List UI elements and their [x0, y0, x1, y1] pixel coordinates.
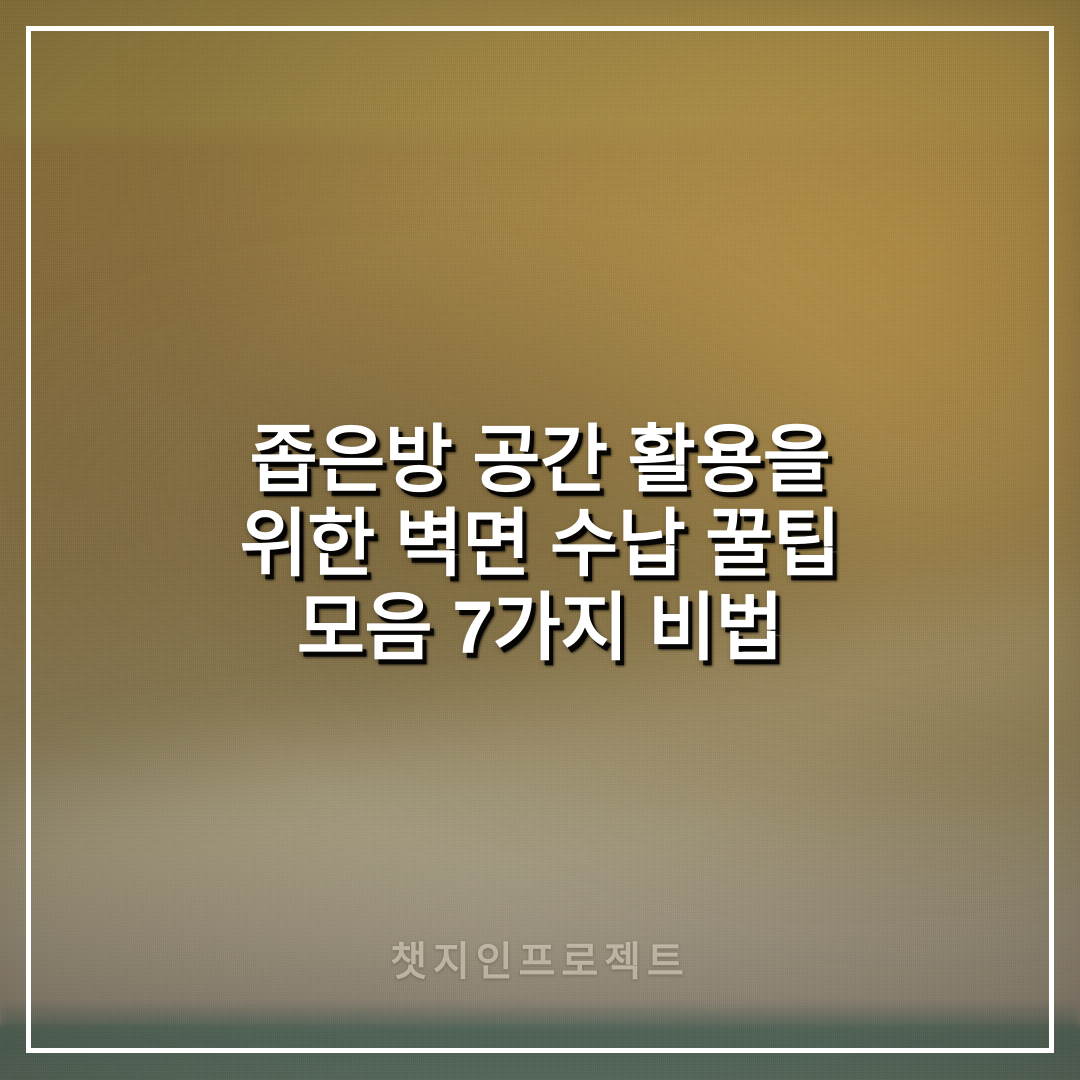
watermark-label: 챗지인프로젝트 [390, 938, 690, 986]
title-line-1: 좁은방 공간 활용을 [0, 418, 1080, 502]
watermark: 챗지인프로젝트 [0, 938, 1080, 986]
background-bottom-green-band [0, 1000, 1080, 1080]
page-title: 좁은방 공간 활용을 위한 벽면 수납 꿀팁 모음 7가지 비법 [0, 418, 1080, 670]
title-line-2: 위한 벽면 수납 꿀팁 [0, 502, 1080, 586]
thumbnail-poster: 좁은방 공간 활용을 위한 벽면 수납 꿀팁 모음 7가지 비법 챗지인프로젝트 [0, 0, 1080, 1080]
title-line-3: 모음 7가지 비법 [0, 586, 1080, 670]
